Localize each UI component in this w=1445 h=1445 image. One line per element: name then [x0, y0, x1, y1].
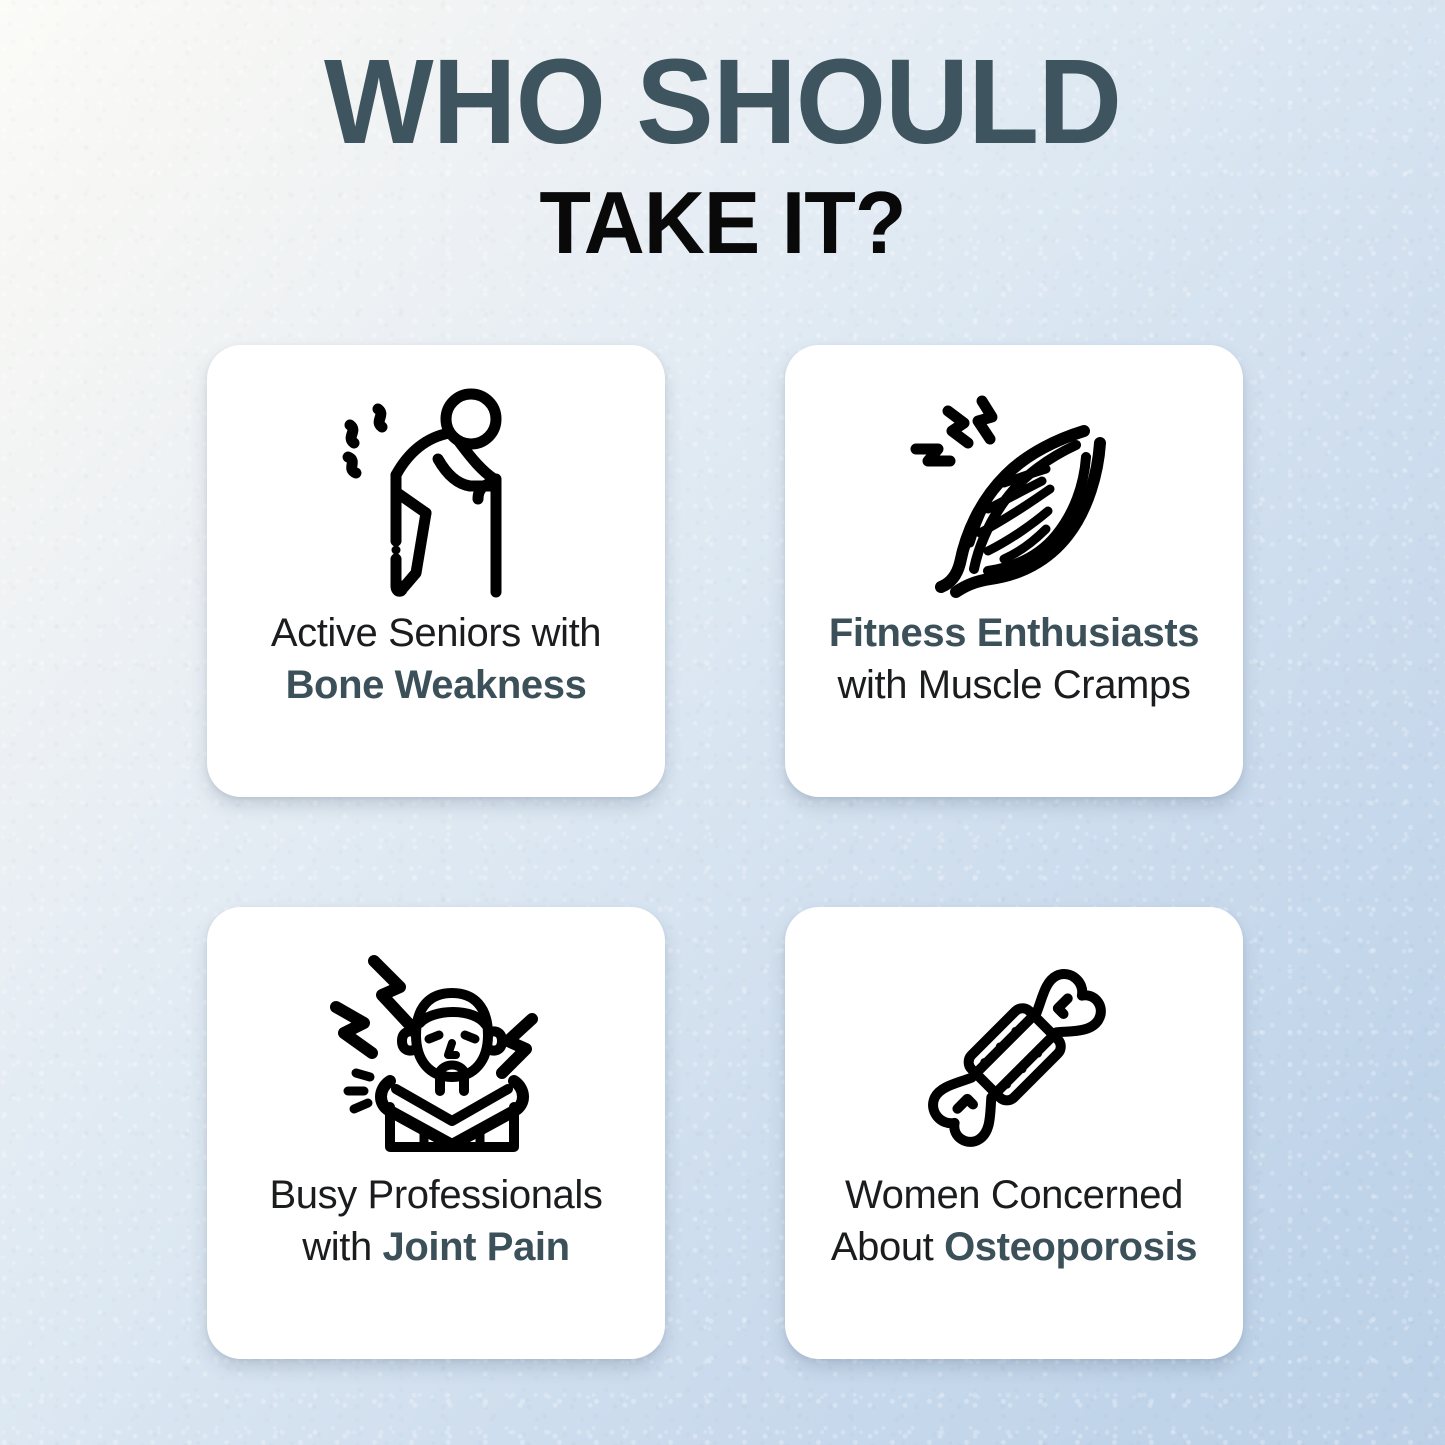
label-part-bold: Joint Pain	[383, 1225, 570, 1269]
stressed-person-joint-pain-icon	[328, 941, 544, 1169]
bandaged-bone-icon	[906, 941, 1122, 1169]
label-part-bold: Osteoporosis	[944, 1225, 1197, 1269]
label-part-bold: Bone Weakness	[286, 663, 587, 707]
label-part: Active Seniors with	[271, 611, 601, 655]
label-part: with Muscle Cramps	[838, 663, 1191, 707]
page-heading: WHO SHOULD TAKE IT?	[0, 40, 1445, 270]
label-part-bold: Fitness Enthusiasts	[829, 611, 1199, 655]
card-label: Active Seniors with Bone Weakness	[233, 607, 639, 773]
heading-line-2: TAKE IT?	[29, 177, 1416, 269]
muscle-fiber-cramp-icon	[908, 379, 1120, 607]
card-label: Women Concerned About Osteoporosis	[811, 1169, 1217, 1335]
card-fitness-enthusiasts[interactable]: Fitness Enthusiasts with Muscle Cramps	[785, 345, 1243, 797]
card-busy-professionals[interactable]: Busy Professionals with Joint Pain	[207, 907, 665, 1359]
card-women-osteoporosis[interactable]: Women Concerned About Osteoporosis	[785, 907, 1243, 1359]
heading-line-1: WHO SHOULD	[29, 40, 1416, 163]
card-active-seniors[interactable]: Active Seniors with Bone Weakness	[207, 345, 665, 797]
card-label: Fitness Enthusiasts with Muscle Cramps	[811, 607, 1217, 773]
elderly-person-with-cane-icon	[334, 379, 539, 607]
card-label: Busy Professionals with Joint Pain	[233, 1169, 639, 1335]
audience-card-grid: Active Seniors with Bone Weakness	[207, 345, 1243, 1359]
